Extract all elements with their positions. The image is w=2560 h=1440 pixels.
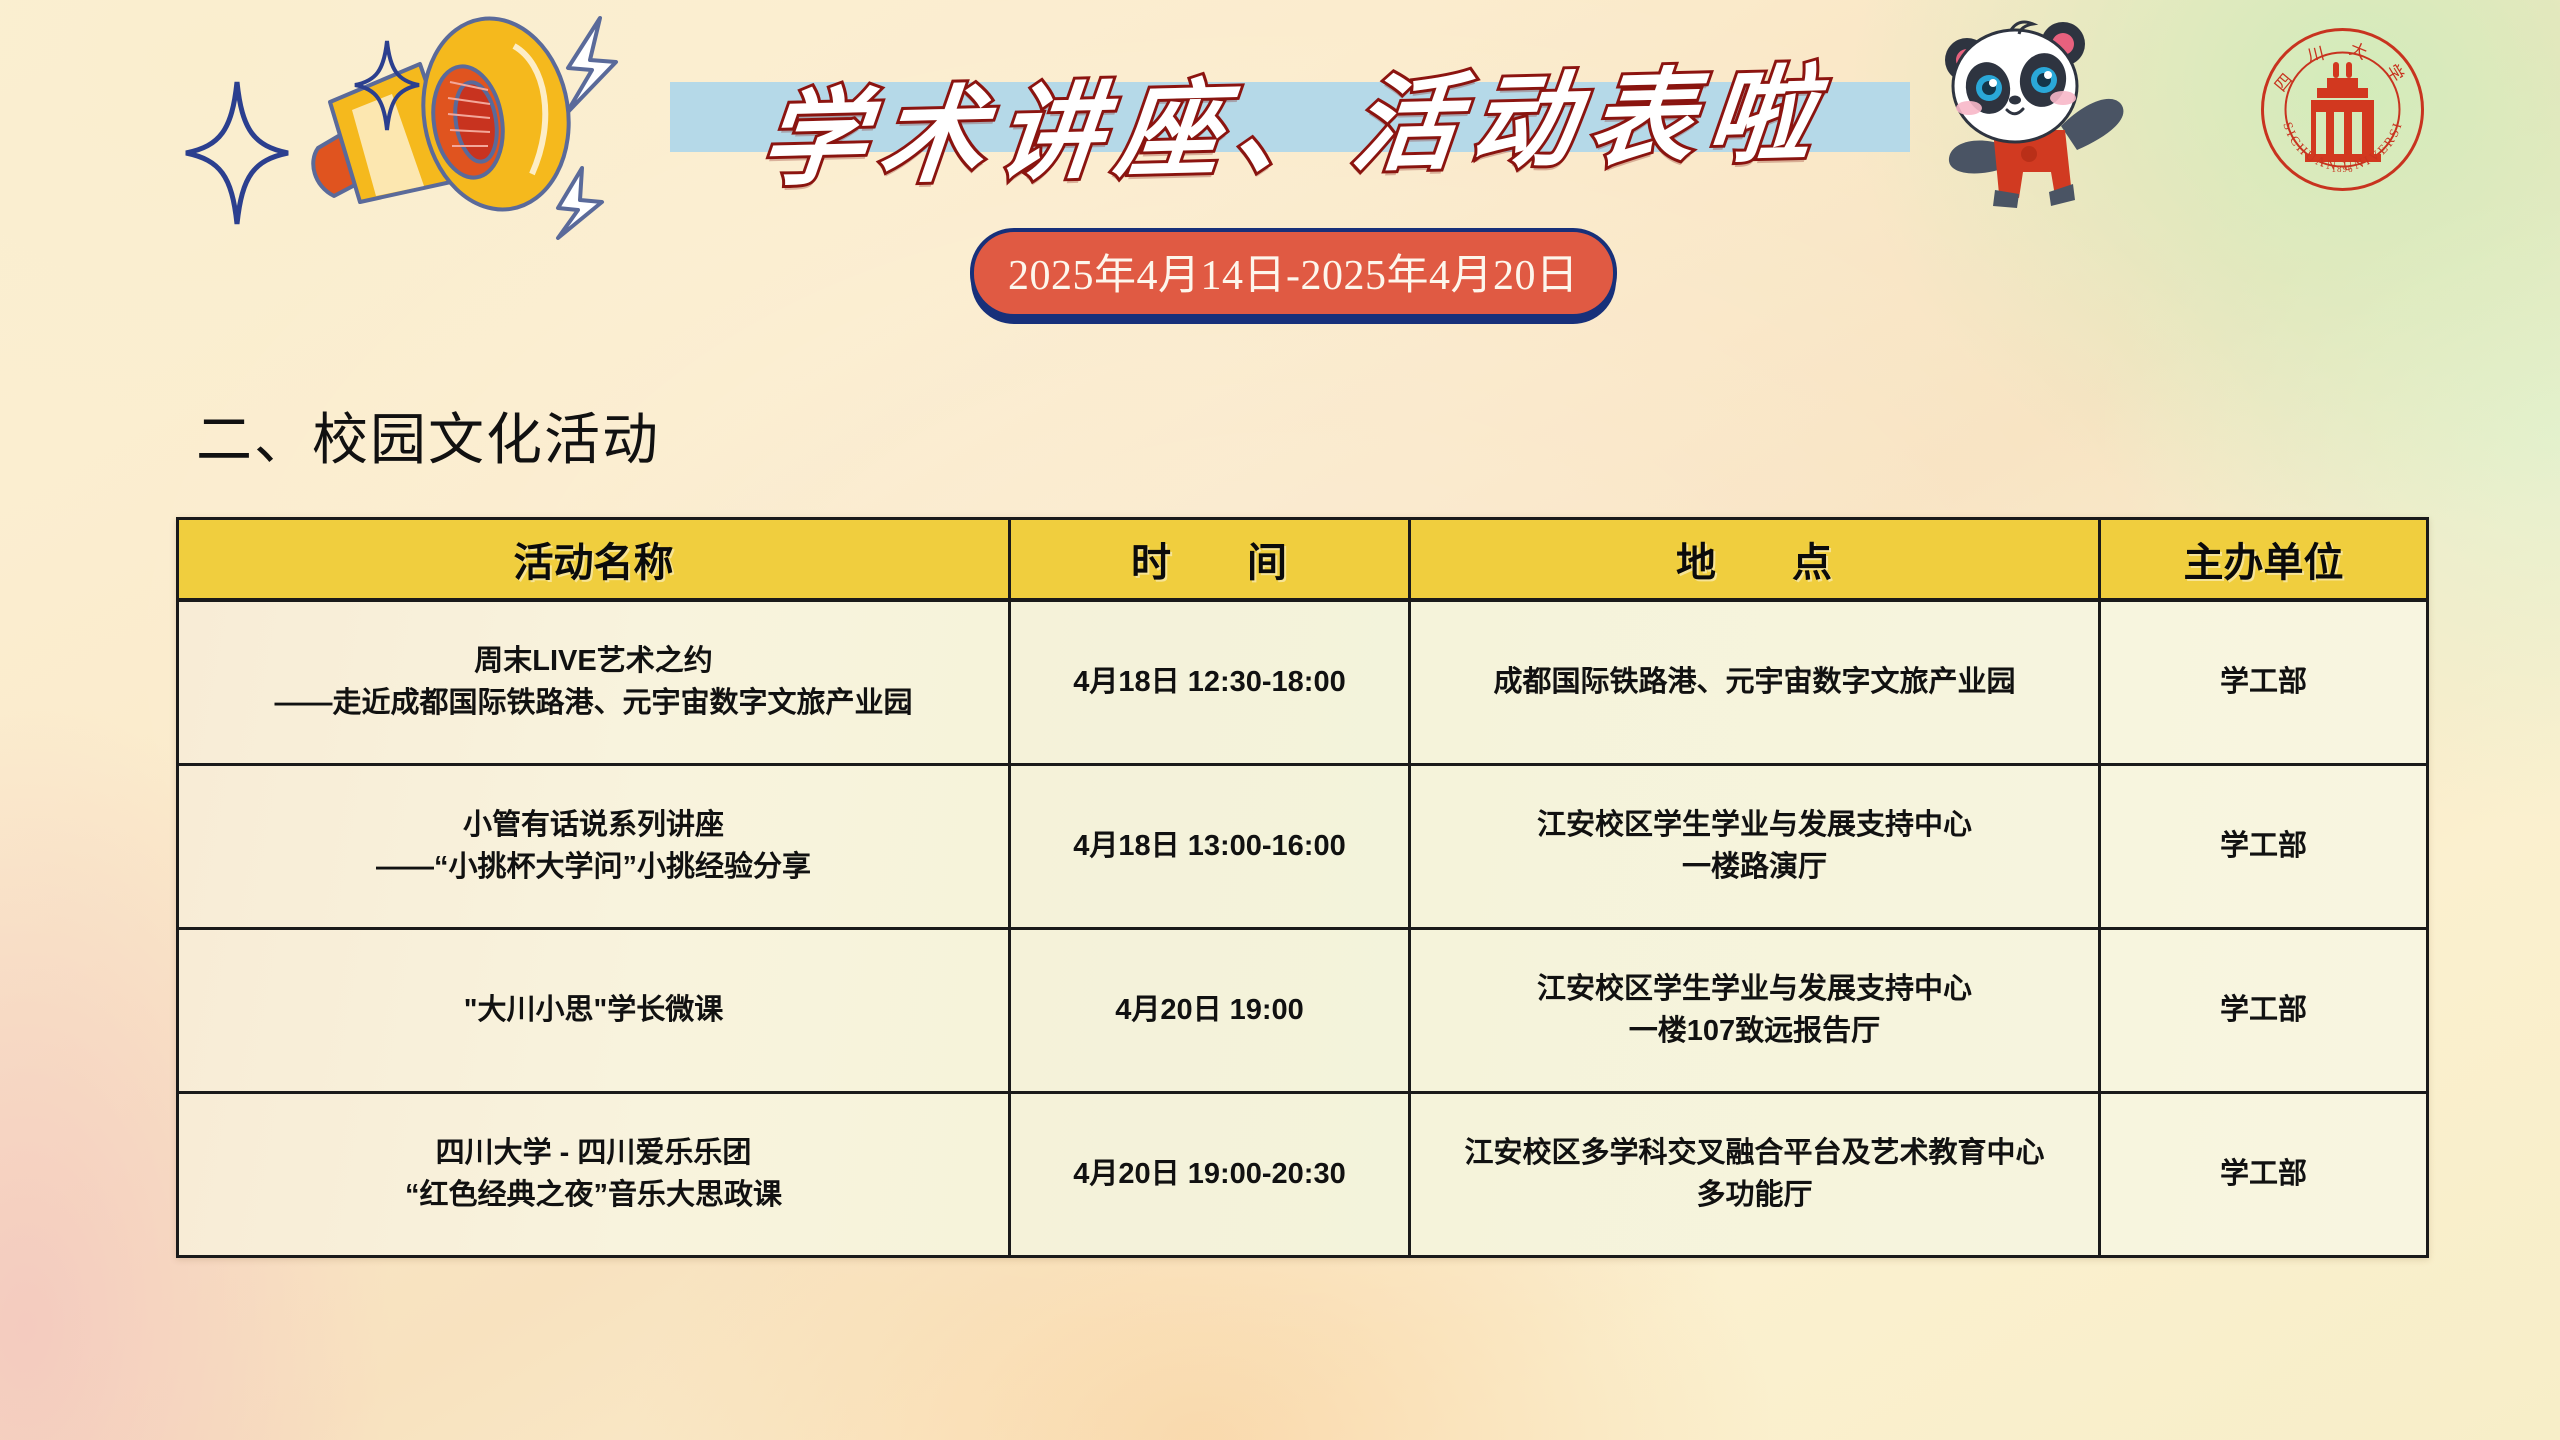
activity-name-line1: 四川大学 - 四川爱乐乐团 — [193, 1133, 994, 1174]
place-line2: 一楼107致远报告厅 — [1425, 1011, 2084, 1052]
cell-place: 成都国际铁路港、元宇宙数字文旅产业园 — [1410, 600, 2100, 765]
date-range-text: 2025年4月14日-2025年4月20日 — [1008, 253, 1579, 299]
sichuan-university-logo: 1896 SICHUAN UNIVERSITY 四川大学 — [2255, 22, 2430, 202]
column-header-activity-name: 活动名称 — [178, 519, 1010, 601]
place-line1: 江安校区多学科交叉融合平台及艺术教育中心 — [1425, 1133, 2084, 1174]
cell-time: 4月20日 19:00 — [1010, 929, 1410, 1093]
page-title: 学术讲座、活动表啦 — [651, 30, 1939, 206]
table-row: 周末LIVE艺术之约 ——走近成都国际铁路港、元宇宙数字文旅产业园 4月18日 … — [178, 600, 2428, 765]
cell-time: 4月18日 12:30-18:00 — [1010, 600, 1410, 765]
cell-time: 4月20日 19:00-20:30 — [1010, 1093, 1410, 1257]
activity-name-line2: ——“小挑杯大学问”小挑经验分享 — [193, 847, 994, 888]
table-row: 四川大学 - 四川爱乐乐团 “红色经典之夜”音乐大思政课 4月20日 19:00… — [178, 1093, 2428, 1257]
table-body: 周末LIVE艺术之约 ——走近成都国际铁路港、元宇宙数字文旅产业园 4月18日 … — [178, 600, 2428, 1257]
section-heading: 二、校园文化活动 — [196, 395, 660, 476]
table-head: 活动名称 时 间 地 点 主办单位 — [178, 519, 2428, 601]
place-line1: 江安校区学生学业与发展支持中心 — [1425, 969, 2084, 1010]
table-header-row: 活动名称 时 间 地 点 主办单位 — [178, 519, 2428, 601]
cell-activity-name: 小管有话说系列讲座 ——“小挑杯大学问”小挑经验分享 — [178, 765, 1010, 929]
cell-organizer: 学工部 — [2100, 765, 2428, 929]
place-line1: 江安校区学生学业与发展支持中心 — [1425, 805, 2084, 846]
activity-name-line1: 小管有话说系列讲座 — [193, 805, 994, 846]
activity-name-line1: "大川小思"学长微课 — [193, 990, 994, 1031]
date-range-badge: 2025年4月14日-2025年4月20日 — [970, 228, 1617, 318]
cell-activity-name: 四川大学 - 四川爱乐乐团 “红色经典之夜”音乐大思政课 — [178, 1093, 1010, 1257]
activity-name-line2: “红色经典之夜”音乐大思政课 — [193, 1175, 994, 1216]
place-line2: 多功能厅 — [1425, 1175, 2084, 1216]
activity-name-line2: ——走近成都国际铁路港、元宇宙数字文旅产业园 — [193, 683, 994, 724]
cell-place: 江安校区学生学业与发展支持中心 一楼107致远报告厅 — [1410, 929, 2100, 1093]
table-row: "大川小思"学长微课 4月20日 19:00 江安校区学生学业与发展支持中心 一… — [178, 929, 2428, 1093]
cell-organizer: 学工部 — [2100, 600, 2428, 765]
activities-table-wrapper: 活动名称 时 间 地 点 主办单位 周末LIVE艺术之约 ——走近成都国际铁路港… — [176, 517, 2426, 1258]
cell-organizer: 学工部 — [2100, 1093, 2428, 1257]
title-block: 学术讲座、活动表啦 — [660, 45, 1930, 190]
table-row: 小管有话说系列讲座 ——“小挑杯大学问”小挑经验分享 4月18日 13:00-1… — [178, 765, 2428, 929]
cell-time: 4月18日 13:00-16:00 — [1010, 765, 1410, 929]
cell-activity-name: "大川小思"学长微课 — [178, 929, 1010, 1093]
panda-mascot-icon — [1915, 8, 2145, 223]
column-header-place: 地 点 — [1410, 519, 2100, 601]
sparkle-icon — [182, 78, 292, 233]
column-header-organizer: 主办单位 — [2100, 519, 2428, 601]
activities-table: 活动名称 时 间 地 点 主办单位 周末LIVE艺术之约 ——走近成都国际铁路港… — [176, 517, 2429, 1258]
cell-organizer: 学工部 — [2100, 929, 2428, 1093]
cell-activity-name: 周末LIVE艺术之约 ——走近成都国际铁路港、元宇宙数字文旅产业园 — [178, 600, 1010, 765]
cell-place: 江安校区学生学业与发展支持中心 一楼路演厅 — [1410, 765, 2100, 929]
activity-name-line1: 周末LIVE艺术之约 — [193, 641, 994, 682]
place-line2: 一楼路演厅 — [1425, 847, 2084, 888]
column-header-time: 时 间 — [1010, 519, 1410, 601]
place-line1: 成都国际铁路港、元宇宙数字文旅产业园 — [1425, 662, 2084, 703]
cell-place: 江安校区多学科交叉融合平台及艺术教育中心 多功能厅 — [1410, 1093, 2100, 1257]
sparkle-small-icon — [352, 38, 422, 138]
